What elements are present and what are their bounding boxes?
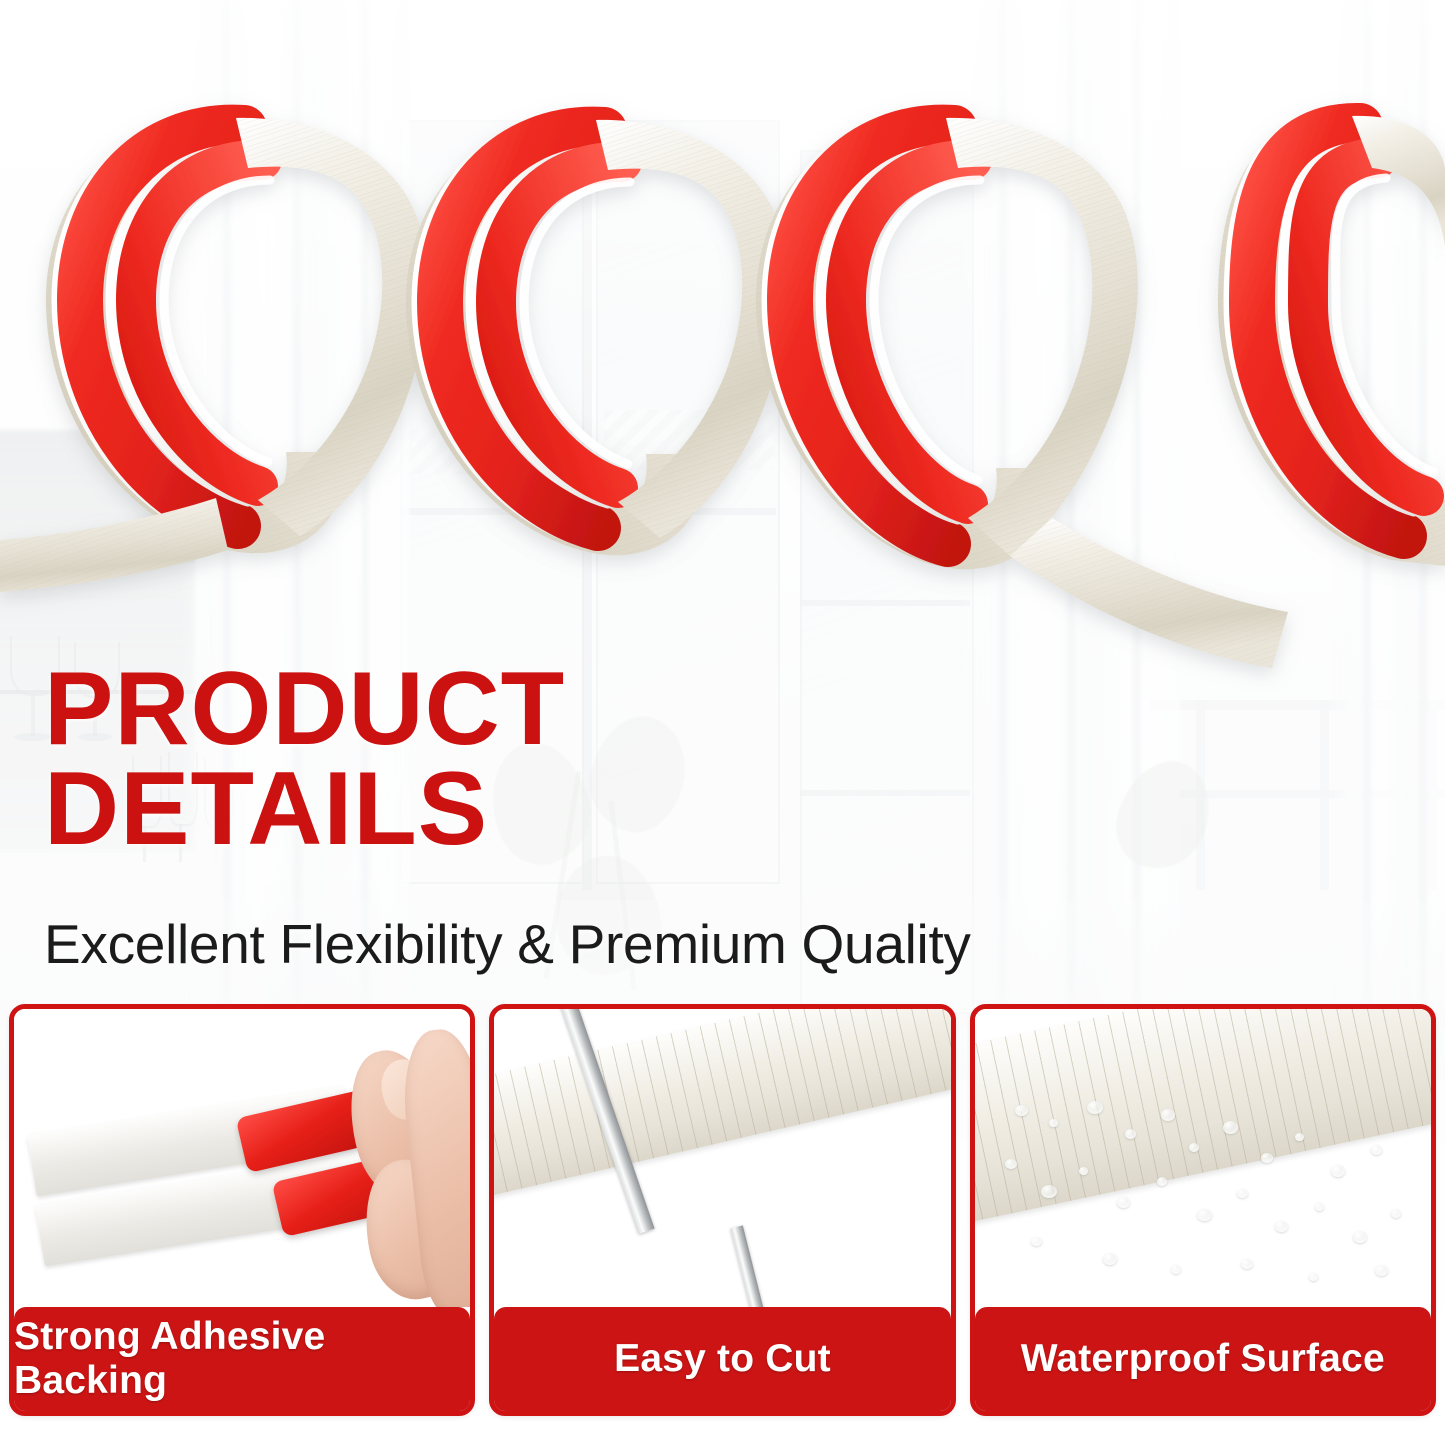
feature-caption-cut: Easy to Cut [494, 1307, 950, 1411]
product-infographic: PRODUCT DETAILS Excellent Flexibility & … [0, 0, 1445, 1445]
tape-coil-2 [406, 119, 788, 555]
tape-coil-3 [756, 117, 1288, 668]
feature-panel-cut[interactable]: Easy to Cut [489, 1004, 955, 1416]
feature-panels: Strong Adhesive Backing Easy to Cut [0, 1004, 1445, 1416]
feature-caption-waterproof: Waterproof Surface [975, 1307, 1431, 1411]
heading-line-2: DETAILS [44, 760, 565, 860]
feature-caption-adhesive: Strong Adhesive Backing [14, 1307, 470, 1411]
heading-line-1: PRODUCT [44, 660, 565, 760]
tape-coil-1 [46, 117, 428, 553]
page-heading: PRODUCT DETAILS [44, 660, 565, 860]
tape-tail-left [0, 498, 228, 592]
hand-peel-icon [14, 1009, 470, 1307]
water-drop-icon [975, 1009, 1431, 1307]
scissors-icon [494, 1009, 950, 1307]
tape-coil-4 [1218, 116, 1445, 566]
hero-tape-coils [0, 0, 1445, 720]
feature-panel-waterproof[interactable]: Waterproof Surface [970, 1004, 1436, 1416]
page-subtitle: Excellent Flexibility & Premium Quality [44, 912, 971, 976]
feature-panel-adhesive[interactable]: Strong Adhesive Backing [9, 1004, 475, 1416]
